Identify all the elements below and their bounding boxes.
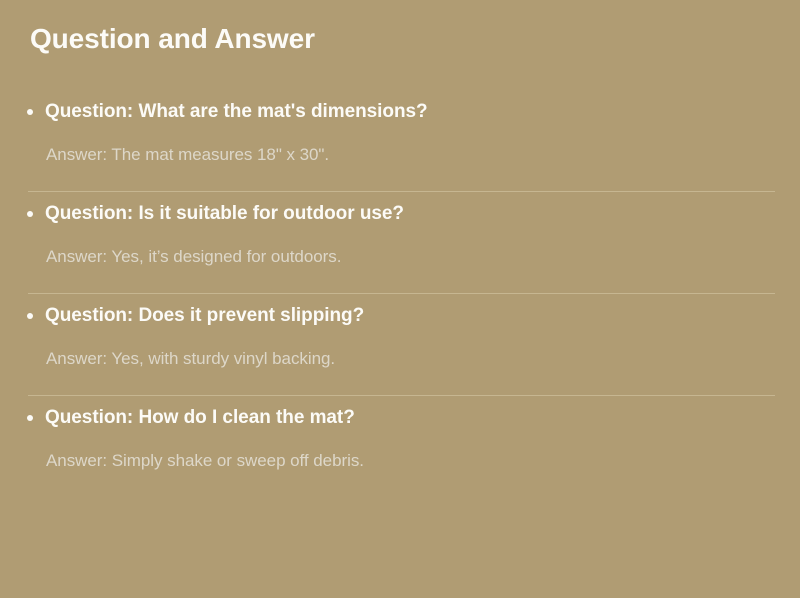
bullet-icon bbox=[27, 211, 33, 217]
qa-answer: Answer: Yes, with sturdy vinyl backing. bbox=[0, 328, 800, 370]
qa-question: Question: Does it prevent slipping? bbox=[0, 294, 800, 328]
bullet-icon bbox=[27, 313, 33, 319]
qa-question-text: Question: What are the mat's dimensions? bbox=[45, 101, 428, 122]
bullet-icon bbox=[27, 415, 33, 421]
page-title: Question and Answer bbox=[30, 22, 315, 56]
qa-question: Question: What are the mat's dimensions? bbox=[0, 90, 800, 124]
bullet-icon bbox=[27, 109, 33, 115]
qa-answer: Answer: Simply shake or sweep off debris… bbox=[0, 430, 800, 472]
qa-question-text: Question: Is it suitable for outdoor use… bbox=[45, 203, 404, 224]
qa-answer: Answer: Yes, it’s designed for outdoors. bbox=[0, 226, 800, 268]
qa-list: Question: What are the mat's dimensions?… bbox=[0, 90, 800, 472]
qa-question-text: Question: How do I clean the mat? bbox=[45, 407, 355, 428]
qa-item: Question: How do I clean the mat? Answer… bbox=[0, 396, 800, 472]
qa-panel: Question and Answer Question: What are t… bbox=[0, 0, 800, 598]
qa-item: Question: Does it prevent slipping? Answ… bbox=[0, 294, 800, 396]
qa-item: Question: Is it suitable for outdoor use… bbox=[0, 192, 800, 294]
qa-question: Question: How do I clean the mat? bbox=[0, 396, 800, 430]
qa-question-text: Question: Does it prevent slipping? bbox=[45, 305, 364, 326]
qa-answer: Answer: The mat measures 18" x 30". bbox=[0, 124, 800, 166]
qa-question: Question: Is it suitable for outdoor use… bbox=[0, 192, 800, 226]
qa-item: Question: What are the mat's dimensions?… bbox=[0, 90, 800, 192]
